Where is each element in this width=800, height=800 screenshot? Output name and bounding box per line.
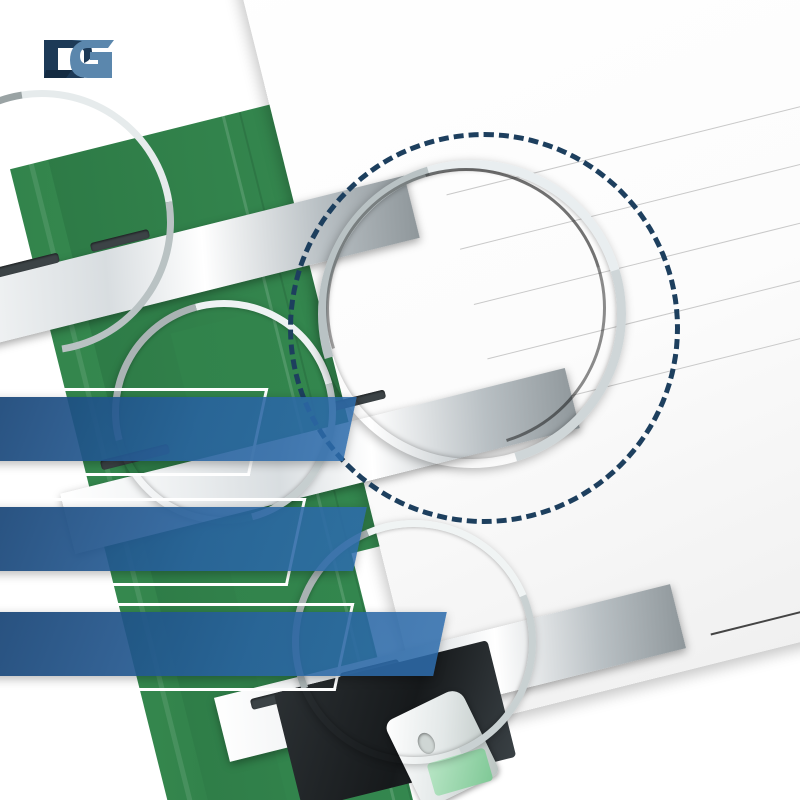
feature-badge-sheet-capacity — [0, 612, 447, 676]
document-divider-rule — [711, 575, 800, 635]
brand-logo — [42, 34, 132, 84]
product-marketing-image — [0, 0, 800, 800]
feature-badge-ring-style — [0, 507, 367, 571]
feature-badge-capacity — [0, 397, 357, 461]
magnifier-dashed-circle — [288, 132, 680, 524]
dg-monogram-icon — [42, 34, 116, 84]
